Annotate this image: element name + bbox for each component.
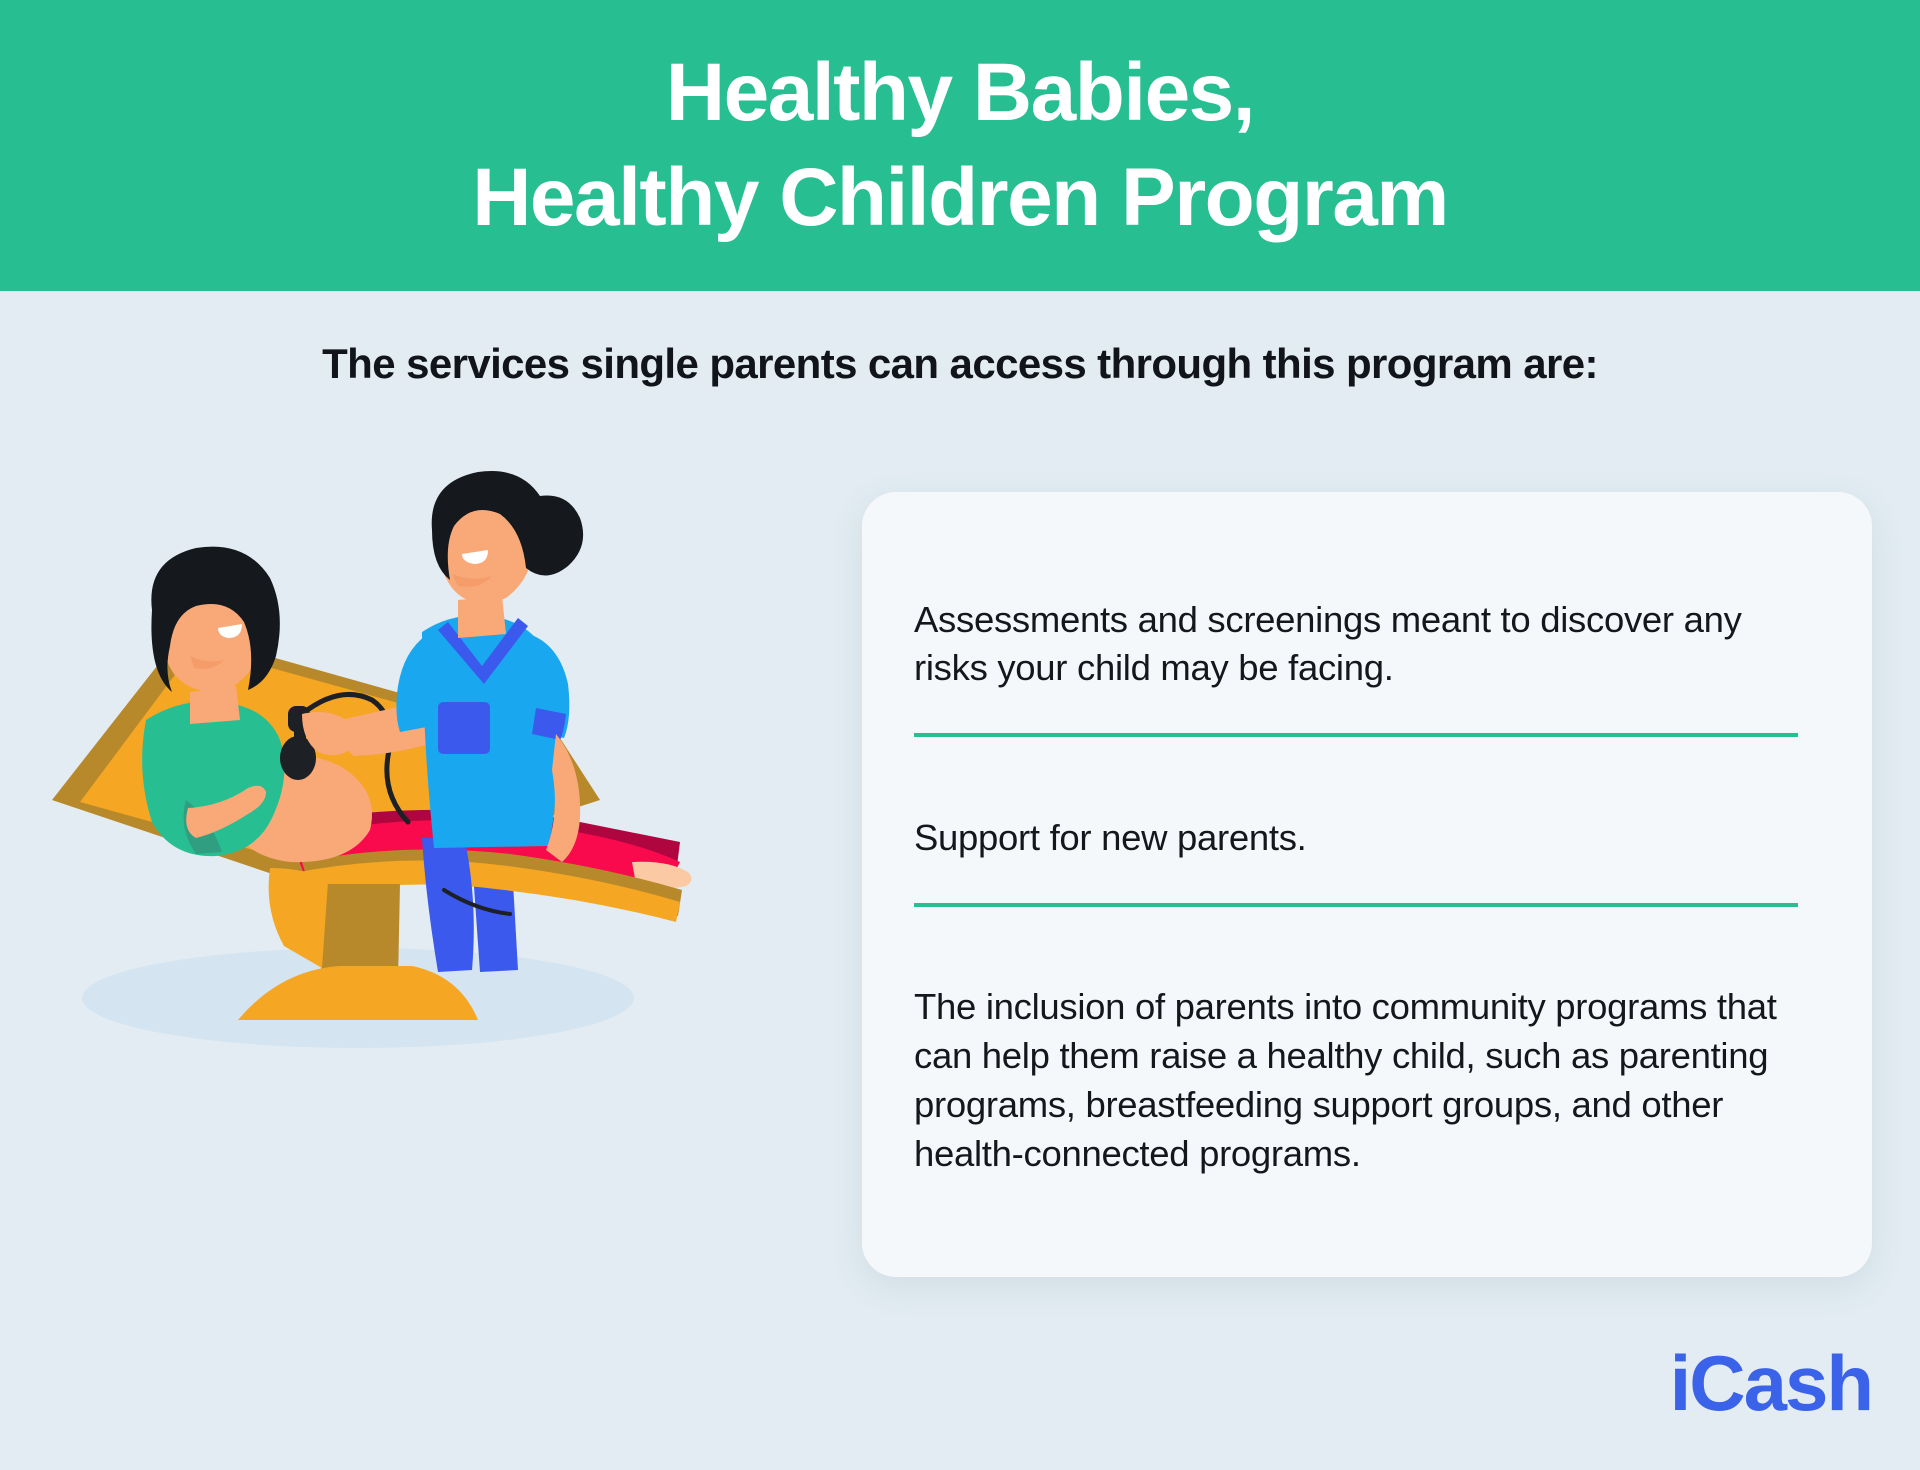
subtitle-text: The services single parents can access t…	[0, 340, 1920, 388]
nurse-pocket	[438, 702, 490, 754]
patient-neck	[190, 686, 240, 724]
divider-2	[914, 903, 1798, 907]
service-item-support: Support for new parents.	[914, 814, 1798, 863]
icash-logo[interactable]: iCash	[1670, 1344, 1872, 1422]
service-item-assessments: Assessments and screenings meant to disc…	[914, 596, 1798, 694]
services-card: Assessments and screenings meant to disc…	[862, 492, 1872, 1277]
pregnant-woman-ultrasound-illustration	[40, 470, 720, 1090]
page-title: Healthy Babies, Healthy Children Program	[412, 41, 1508, 251]
service-item-community-programs: The inclusion of parents into community …	[914, 983, 1798, 1179]
header-band: Healthy Babies, Healthy Children Program	[0, 0, 1920, 291]
nurse-sleeve-left	[396, 634, 432, 732]
divider-1	[914, 733, 1798, 737]
